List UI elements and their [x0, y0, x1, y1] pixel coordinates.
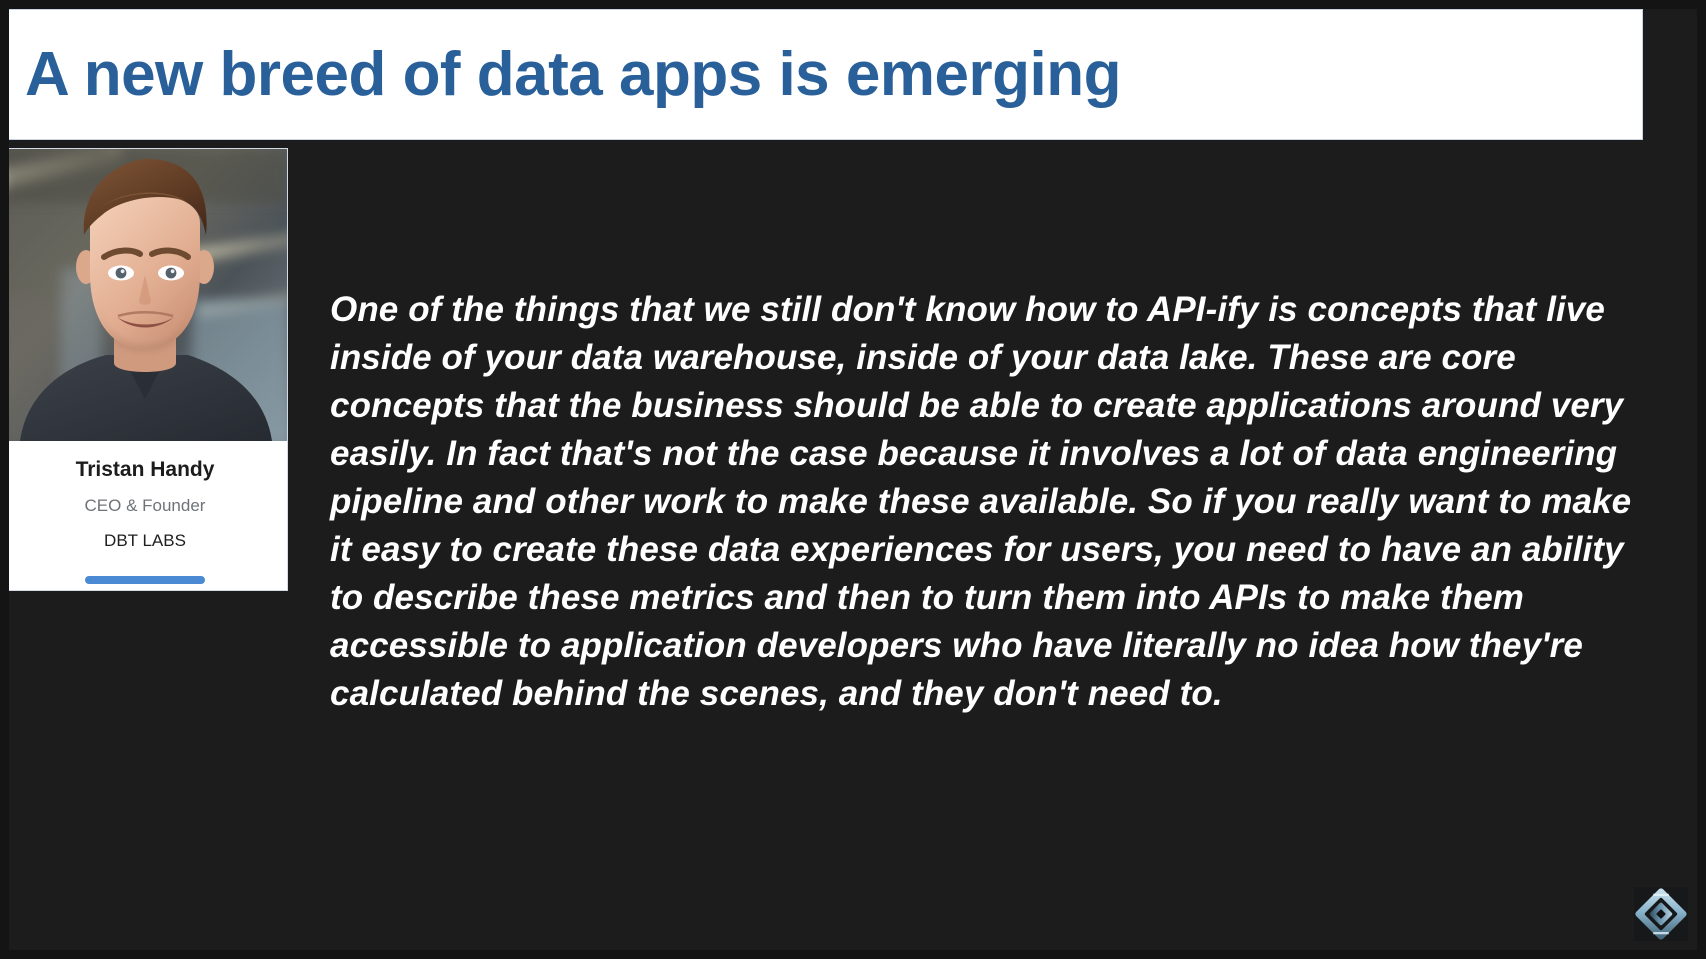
- speaker-organization: DBT LABS: [3, 531, 287, 551]
- speaker-card: Tristan Handy CEO & Founder DBT LABS: [2, 148, 288, 591]
- presentation-slide: A new breed of data apps is emerging: [0, 0, 1706, 959]
- diamond-knot-logo-icon: [1634, 887, 1688, 941]
- speaker-details: Tristan Handy CEO & Founder DBT LABS: [3, 441, 287, 551]
- slide-title-bar: A new breed of data apps is emerging: [2, 9, 1643, 140]
- speaker-role: CEO & Founder: [3, 496, 287, 516]
- card-progress-bar[interactable]: [85, 576, 205, 584]
- speaker-portrait-image: [3, 149, 287, 441]
- speaker-name: Tristan Handy: [3, 457, 287, 482]
- diamond-knot-logo-svg: [1634, 887, 1688, 941]
- page-title: A new breed of data apps is emerging: [3, 42, 1121, 107]
- quote-text: One of the things that we still don't kn…: [330, 286, 1645, 718]
- portrait-illustration: [3, 149, 287, 441]
